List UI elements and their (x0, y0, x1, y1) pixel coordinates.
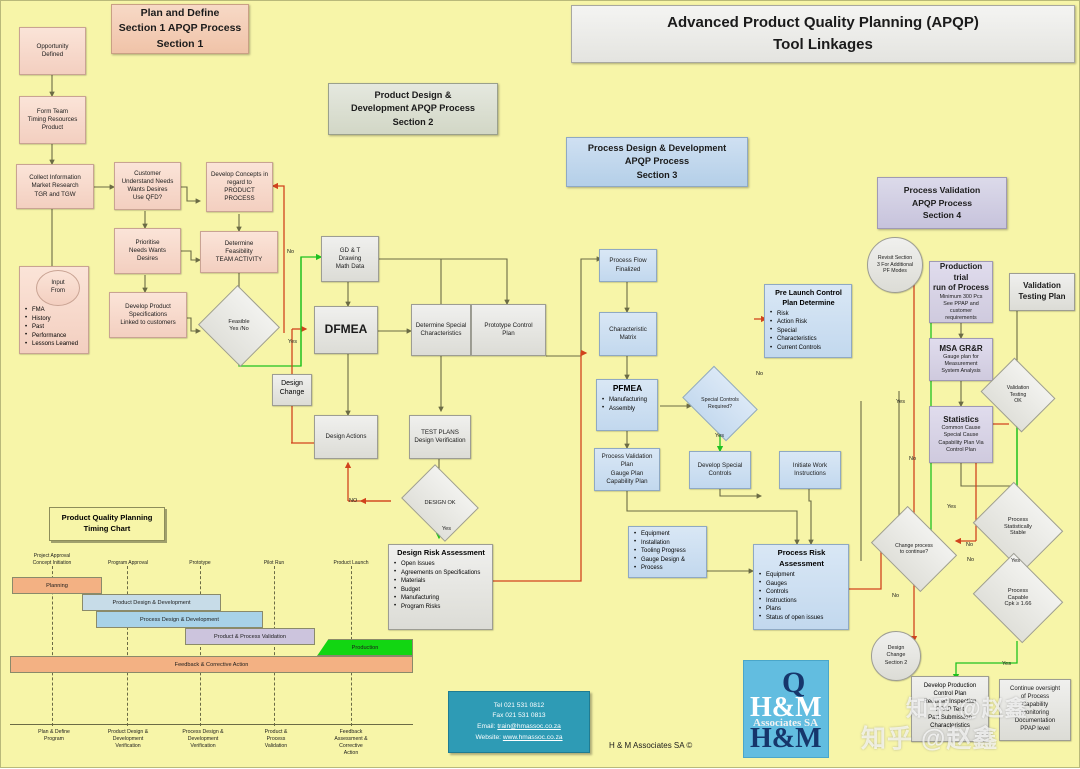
gantt-bar-feedback-corrective-action: Feedback & Corrective Action (10, 656, 413, 673)
contact-box: Tel 021 531 0812 Fax 021 531 0813 Email:… (448, 691, 590, 753)
gantt-chart-title: Product Quality Planning Timing Chart (49, 507, 165, 541)
node-validation-testing-plan: Validation Testing Plan (1009, 273, 1075, 311)
gantt-bar-product-design: Product Design & Development (82, 594, 221, 611)
flow-label-no-1: No (287, 249, 294, 255)
contact-website-row: Website: www.hmassoc.co.za (475, 733, 562, 744)
node-dfmea: DFMEA (314, 306, 378, 354)
flow-label-no-5: No (966, 542, 973, 548)
node-customer-understand-needs: Customer Understand Needs Wants Desires … (114, 162, 181, 210)
hm-associates-logo: Q H&M Associates SA H&M (743, 660, 829, 758)
gantt-bar-process-design: Process Design & Development (96, 611, 263, 628)
main-title: Advanced Product Quality Planning (APQP)… (571, 5, 1075, 63)
gantt-phase-label-2: Product Design & Development Verificatio… (93, 729, 163, 750)
pfmea-list: Manufacturing Assembly (601, 396, 654, 413)
flow-label-no-6: No (967, 557, 974, 563)
node-determine-special-characteristics: Determine Special Characteristics (411, 304, 471, 356)
node-initiate-work-instructions: Initiate Work Instructions (779, 451, 841, 489)
copyright-text: H & M Associates SA © (609, 741, 692, 750)
design-risk-list: Open Issues Agreements on Specifications… (393, 560, 489, 611)
input-from-list: FMA History Past Performance Lessons Lea… (24, 306, 85, 349)
flow-label-yes-4: Yes (896, 399, 905, 405)
gantt-bar-product-process-validation: Product & Process Validation (185, 628, 315, 645)
input-from-box: Input From FMA History Past Performance … (19, 266, 89, 354)
node-gdt-drawing: GD & T Drawing Math Data (321, 236, 379, 282)
milestone-label-2: Program Approval (92, 560, 164, 567)
milestone-line-4 (274, 566, 275, 726)
milestone-label-1: Project Approval Concept Initiation (15, 553, 89, 566)
pre-launch-control-plan-box: Pre Launch Control Plan Determine Risk A… (764, 284, 852, 358)
node-pfmea: PFMEA Manufacturing Assembly (596, 379, 658, 431)
main-title-line2: Tool Linkages (773, 34, 873, 57)
node-prioritise-needs: Prioritise Needs Wants Desires (114, 228, 181, 274)
node-form-team: Form Team Timing Resources Product (19, 96, 86, 144)
gantt-bar-production: Production (317, 639, 413, 656)
contact-email-row: Email: train@hmassoc.co.za (477, 722, 561, 733)
gantt-phase-label-4: Product & Process Validation (245, 729, 307, 750)
flow-label-no-2: NO (349, 498, 357, 504)
node-develop-concepts: Develop Concepts in regard to PRODUCT PR… (206, 162, 273, 212)
section3-header: Process Design & Development APQP Proces… (566, 137, 748, 187)
section1-header: Plan and Define Section 1 APQP Process S… (111, 4, 249, 54)
apqp-diagram-canvas: Advanced Product Quality Planning (APQP)… (0, 0, 1080, 768)
flow-label-no-3: No (756, 371, 763, 377)
flow-label-no-4: No (909, 456, 916, 462)
section2-header: Product Design & Development APQP Proces… (328, 83, 498, 135)
node-revisit-section-3: Revisit Section 3 For Additional PF Mode… (867, 237, 923, 293)
flow-label-yes-6: Yes (1011, 558, 1020, 564)
node-msa-grr: MSA GR&R Gauge plan for Measurement Syst… (929, 338, 993, 381)
node-develop-product-specifications: Develop Product Specifications Linked to… (109, 292, 187, 338)
milestone-line-3 (200, 566, 201, 726)
milestone-label-3: Prototype (173, 560, 227, 567)
main-title-line1: Advanced Product Quality Planning (APQP) (667, 12, 979, 35)
decision-process-statistically-stable: Process Statistically Stable (983, 498, 1053, 556)
flow-label-yes-1: Yes (288, 339, 297, 345)
pre-launch-list: Risk Action Risk Special Characteristics… (769, 310, 848, 353)
contact-website-link[interactable]: www.hmassoc.co.za (503, 734, 563, 741)
node-develop-special-controls: Develop Special Controls (689, 451, 751, 489)
decision-feasible: Feasible Yes /No (209, 298, 269, 354)
node-develop-production-control-plan: Develop Production Control Plan Reduced … (911, 676, 989, 742)
decision-special-controls-required: Special Controls Required? (689, 381, 751, 426)
milestone-line-2 (127, 566, 128, 726)
logo-hm-bottom: H&M (750, 723, 822, 755)
node-prototype-control-plan: Prototype Control Plan (471, 304, 546, 356)
contact-tel: Tel 021 531 0812 (494, 701, 545, 712)
node-design-change: Design Change (272, 374, 312, 406)
milestone-label-4: Pilot Run (247, 560, 301, 567)
node-determine-feasibility: Determine Feasibility TEAM ACTIVITY (200, 231, 278, 273)
gantt-axis (10, 724, 413, 725)
input-from-circle: Input From (36, 270, 80, 306)
flow-label-yes-7: Yes (1002, 661, 1011, 667)
gantt-phase-label-1: Plan & Define Program (21, 729, 87, 743)
node-continue-oversight: Continue oversight of Process Capability… (999, 679, 1071, 741)
node-design-actions: Design Actions (314, 415, 378, 459)
node-characteristic-matrix: Characteristic Matrix (599, 312, 657, 356)
node-process-flow-finalized: Process Flow Finalized (599, 249, 657, 282)
process-risk-list: Equipment Gauges Controls Instructions P… (758, 571, 845, 622)
flow-label-yes-5: Yes (947, 504, 956, 510)
decision-process-capable: Process Capable Cpk ≥ 1.66 (983, 569, 1053, 627)
gantt-phase-label-5: Feedback Assessment & Corrective Action (316, 729, 386, 757)
decision-change-process-to-continue: Change process to continue? (879, 523, 949, 575)
equipment-list: Equipment Installation Tooling Progress … (633, 530, 703, 573)
contact-fax: Fax 021 531 0813 (492, 711, 545, 722)
flow-label-yes-3: Yes (715, 433, 724, 439)
decision-design-ok: DESIGN OK (409, 479, 471, 527)
node-collect-information: Collect Information Market Research TGR … (16, 164, 94, 209)
decision-validation-testing-ok: Validation Testing OK (989, 371, 1047, 419)
node-opportunity-defined: Opportunity Defined (19, 27, 86, 75)
contact-email-link[interactable]: train@hmassoc.co.za (497, 723, 561, 730)
section4-header: Process Validation APQP Process Section … (877, 177, 1007, 229)
equipment-installation-box: Equipment Installation Tooling Progress … (628, 526, 707, 578)
node-design-change-section-2: Design Change Section 2 (871, 631, 921, 681)
gantt-bar-planning: Planning (12, 577, 102, 594)
milestone-label-5: Product Launch (321, 560, 381, 567)
node-process-validation-plan: Process Validation Plan Gauge Plan Capab… (594, 448, 660, 491)
node-test-plans: TEST PLANS Design Verification (409, 415, 471, 459)
design-risk-assessment-box: Design Risk Assessment Open Issues Agree… (388, 544, 493, 630)
node-statistics: Statistics Common Cause Special Cause Ca… (929, 406, 993, 463)
node-production-trial-run: Production trial run of Process Minimum … (929, 261, 993, 323)
flow-label-no-7: No (892, 593, 899, 599)
gantt-phase-label-3: Process Design & Development Verificatio… (168, 729, 238, 750)
process-risk-assessment-box: Process Risk Assessment Equipment Gauges… (753, 544, 849, 630)
